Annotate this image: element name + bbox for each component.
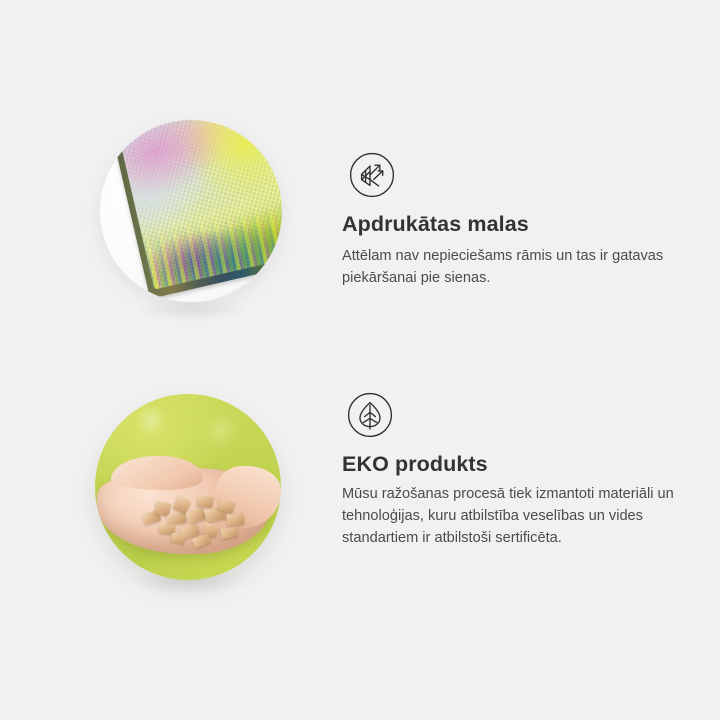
feature-title-printed-edges: Apdrukātas malas <box>342 212 529 237</box>
leaf-icon <box>347 392 393 438</box>
cupped-hands <box>97 452 279 560</box>
hands-holding-wood-chips-photo <box>95 394 281 580</box>
canvas-print-corner-photo <box>100 120 282 302</box>
feature-title-eco-product: EKO produkts <box>342 452 488 477</box>
left-thumb <box>111 456 203 490</box>
canvas-paint-drip <box>141 199 282 290</box>
feature-body-eco-product: Mūsu ražošanas procesā tiek izmantoti ma… <box>342 483 682 550</box>
wood-chips-pile <box>141 494 251 550</box>
promo-page: Apdrukātas malas Attēlam nav nepieciešam… <box>0 0 720 720</box>
canvas-wrapped-edges-icon <box>349 152 395 198</box>
feature-body-printed-edges: Attēlam nav nepieciešams rāmis un tas ir… <box>342 245 692 289</box>
